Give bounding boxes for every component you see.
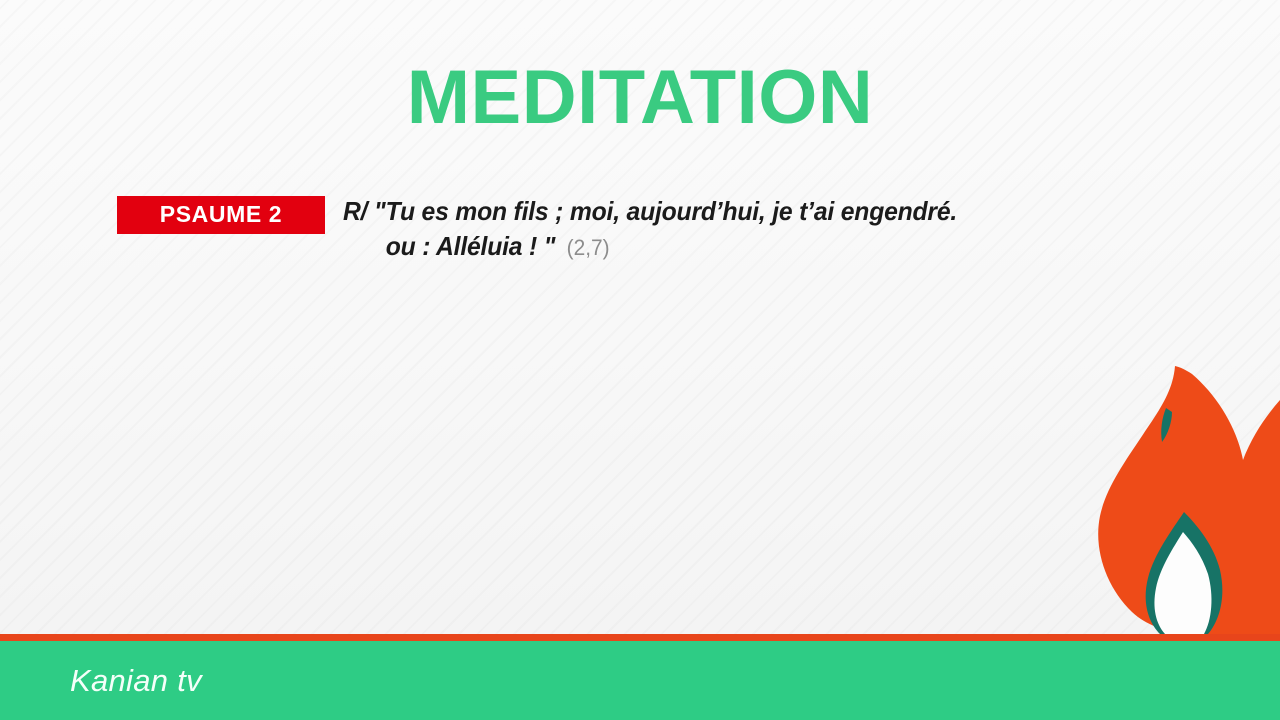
- verse-line-2: ou : Alléluia ! ": [386, 231, 556, 261]
- verse-line-2-wrapper: ou : Alléluia ! "(2,7): [343, 229, 957, 264]
- brand-name: Kanian tv: [70, 663, 202, 699]
- verse-citation: (2,7): [567, 235, 610, 260]
- footer-accent-rule: [0, 634, 1280, 641]
- status-badge-psaume: PSAUME 2: [117, 196, 325, 234]
- page-title: MEDITATION: [0, 60, 1280, 136]
- slide-canvas: MEDITATION PSAUME 2 R/ "Tu es mon fils ;…: [0, 0, 1280, 720]
- scripture-reference-row: PSAUME 2 R/ "Tu es mon fils ; moi, aujou…: [117, 196, 989, 265]
- flame-icon: [1080, 364, 1280, 634]
- verse-text-block: R/ "Tu es mon fils ; moi, aujourd’hui, j…: [343, 194, 989, 265]
- verse-line-1: R/ "Tu es mon fils ; moi, aujourd’hui, j…: [343, 194, 957, 229]
- flame-logo: [1080, 364, 1280, 634]
- footer-bar: Kanian tv: [0, 641, 1280, 720]
